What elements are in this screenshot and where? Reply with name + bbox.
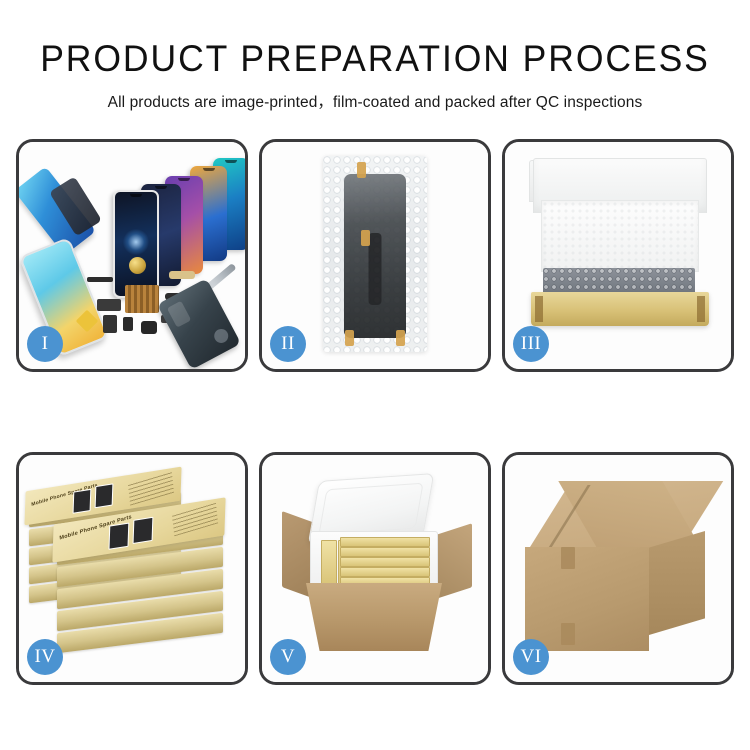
carton-side-face	[649, 531, 705, 635]
box-artwork-phone-3	[108, 523, 129, 550]
step-badge-3: III	[513, 326, 549, 362]
process-step-1: I	[16, 139, 248, 372]
logic-board-part	[125, 285, 159, 313]
box-artwork-phone-1	[73, 489, 92, 514]
box-spec-text-front	[172, 502, 218, 536]
carton-tape-upper	[561, 547, 575, 569]
box-artwork-phone-2	[95, 483, 114, 508]
yellow-box-6	[340, 547, 430, 557]
yellow-box-5	[340, 537, 430, 547]
step-badge-4: IV	[27, 639, 63, 675]
spare-parts-cluster	[83, 255, 241, 363]
step-badge-1: I	[27, 326, 63, 362]
yellow-box-7	[340, 557, 430, 567]
tape-strip-1	[357, 162, 366, 178]
phone-back-housing	[157, 278, 241, 369]
yellow-box-row-horizontal	[338, 533, 432, 591]
page-title: PRODUCT PREPARATION PROCESS	[15, 40, 735, 77]
process-step-grid: I II	[16, 139, 734, 719]
process-step-6: VI	[502, 452, 734, 685]
yellow-box-8	[340, 567, 430, 577]
flex-cable-part-3	[97, 299, 121, 311]
flex-cable-part-1	[169, 271, 195, 279]
bubble-wrap-bag	[323, 156, 427, 352]
carton-body-open	[306, 583, 442, 651]
tape-strip-4	[396, 330, 405, 346]
box-spec-text-back	[128, 471, 174, 505]
page-subtitle: All products are image-printed，film-coat…	[0, 90, 750, 112]
process-step-4: Mobile Phone Spare Parts Mobile Phone Sp…	[16, 452, 248, 685]
step-badge-2: II	[270, 326, 306, 362]
kraft-box-stack: Mobile Phone Spare Parts Mobile Phone Sp…	[23, 473, 245, 671]
tape-strip-2	[361, 230, 370, 246]
box-artwork-phone-4	[133, 517, 154, 544]
yellow-box-1	[321, 540, 337, 586]
product-preparation-infographic: PRODUCT PREPARATION PROCESS All products…	[0, 0, 750, 750]
battery-connector-part	[87, 277, 113, 282]
carton-front-face	[525, 547, 649, 651]
kraft-box-base	[531, 292, 709, 326]
tape-strip-3	[345, 330, 354, 346]
process-step-2: II	[259, 139, 491, 372]
wrapped-phone-part	[344, 174, 406, 338]
step-badge-6: VI	[513, 639, 549, 675]
speaker-part	[141, 321, 157, 334]
foam-liner	[541, 200, 699, 272]
step-badge-5: V	[270, 639, 306, 675]
bracket-part	[103, 315, 117, 333]
process-step-5: V	[259, 452, 491, 685]
copper-coil-part	[129, 257, 146, 274]
carton-tape-lower	[561, 623, 575, 645]
process-step-3: III	[502, 139, 734, 372]
camera-module-part	[123, 317, 133, 331]
page-header: PRODUCT PREPARATION PROCESS All products…	[0, 0, 750, 112]
